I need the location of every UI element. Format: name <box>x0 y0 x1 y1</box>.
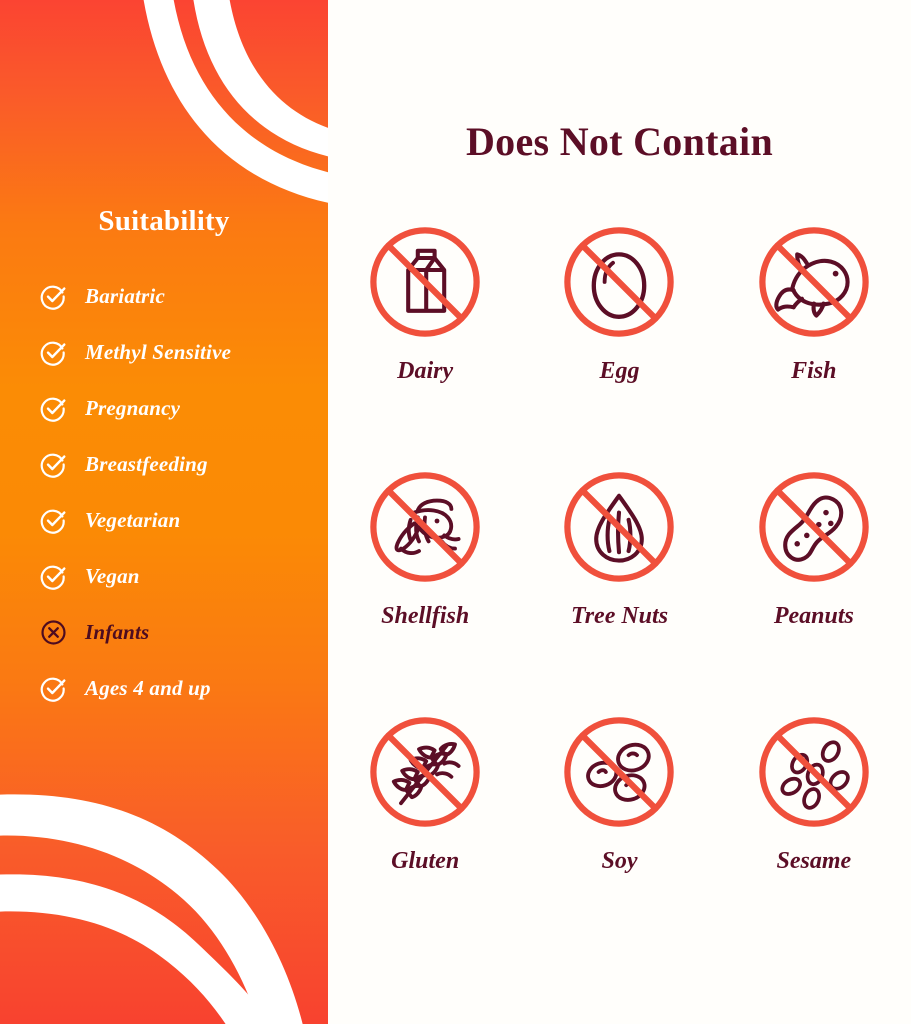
allergen-cell-dairy: Dairy <box>328 222 522 467</box>
allergen-cell-gluten: Gluten <box>328 712 522 957</box>
allergen-cell-shellfish: Shellfish <box>328 467 522 712</box>
fish-icon <box>754 222 874 342</box>
infographic-page: Suitability Bariatric Methyl Sensitive <box>0 0 911 1024</box>
allergen-cell-soy: Soy <box>522 712 716 957</box>
list-item-label: Pregnancy <box>85 396 180 421</box>
allergen-cell-egg: Egg <box>522 222 716 467</box>
soybean-icon <box>559 712 679 832</box>
allergen-label: Shellfish <box>381 603 469 630</box>
suitability-panel: Suitability Bariatric Methyl Sensitive <box>0 0 328 1024</box>
list-item: Ages 4 and up <box>40 660 328 716</box>
suitability-list: Bariatric Methyl Sensitive Pregnancy <box>40 268 328 716</box>
does-not-contain-panel: Does Not Contain Dairy <box>328 0 911 1024</box>
milk-carton-icon <box>365 222 485 342</box>
list-item: Infants <box>40 604 328 660</box>
check-circle-icon <box>40 675 67 702</box>
list-item: Vegetarian <box>40 492 328 548</box>
list-item: Breastfeeding <box>40 436 328 492</box>
check-circle-icon <box>40 563 67 590</box>
check-circle-icon <box>40 339 67 366</box>
check-circle-icon <box>40 395 67 422</box>
sesame-seeds-icon <box>754 712 874 832</box>
allergen-label: Egg <box>599 358 639 385</box>
list-item-label: Vegan <box>85 564 140 589</box>
allergen-label: Soy <box>601 848 637 875</box>
peanut-icon <box>754 467 874 587</box>
list-item: Vegan <box>40 548 328 604</box>
allergen-label: Fish <box>791 358 836 385</box>
allergen-label: Peanuts <box>774 603 854 630</box>
allergen-label: Sesame <box>776 848 851 875</box>
list-item-label: Ages 4 and up <box>85 676 211 701</box>
list-item-label: Bariatric <box>85 284 165 309</box>
almond-icon <box>559 467 679 587</box>
allergen-label: Gluten <box>391 848 459 875</box>
list-item-label: Breastfeeding <box>85 452 208 477</box>
list-item-label: Vegetarian <box>85 508 180 533</box>
list-item: Bariatric <box>40 268 328 324</box>
allergen-cell-sesame: Sesame <box>717 712 911 957</box>
x-circle-icon <box>40 619 67 646</box>
allergen-cell-peanuts: Peanuts <box>717 467 911 712</box>
page-title-suitability: Suitability <box>0 205 328 238</box>
list-item: Pregnancy <box>40 380 328 436</box>
wheat-icon <box>365 712 485 832</box>
page-title-does-not-contain: Does Not Contain <box>328 118 911 165</box>
allergen-cell-fish: Fish <box>717 222 911 467</box>
allergen-label: Dairy <box>397 358 453 385</box>
allergen-cell-tree-nuts: Tree Nuts <box>522 467 716 712</box>
list-item: Methyl Sensitive <box>40 324 328 380</box>
allergen-grid: Dairy Egg <box>328 222 911 957</box>
check-circle-icon <box>40 507 67 534</box>
check-circle-icon <box>40 451 67 478</box>
list-item-label: Infants <box>85 620 149 645</box>
allergen-label: Tree Nuts <box>571 603 668 630</box>
shrimp-icon <box>365 467 485 587</box>
check-circle-icon <box>40 283 67 310</box>
egg-icon <box>559 222 679 342</box>
list-item-label: Methyl Sensitive <box>85 340 231 365</box>
